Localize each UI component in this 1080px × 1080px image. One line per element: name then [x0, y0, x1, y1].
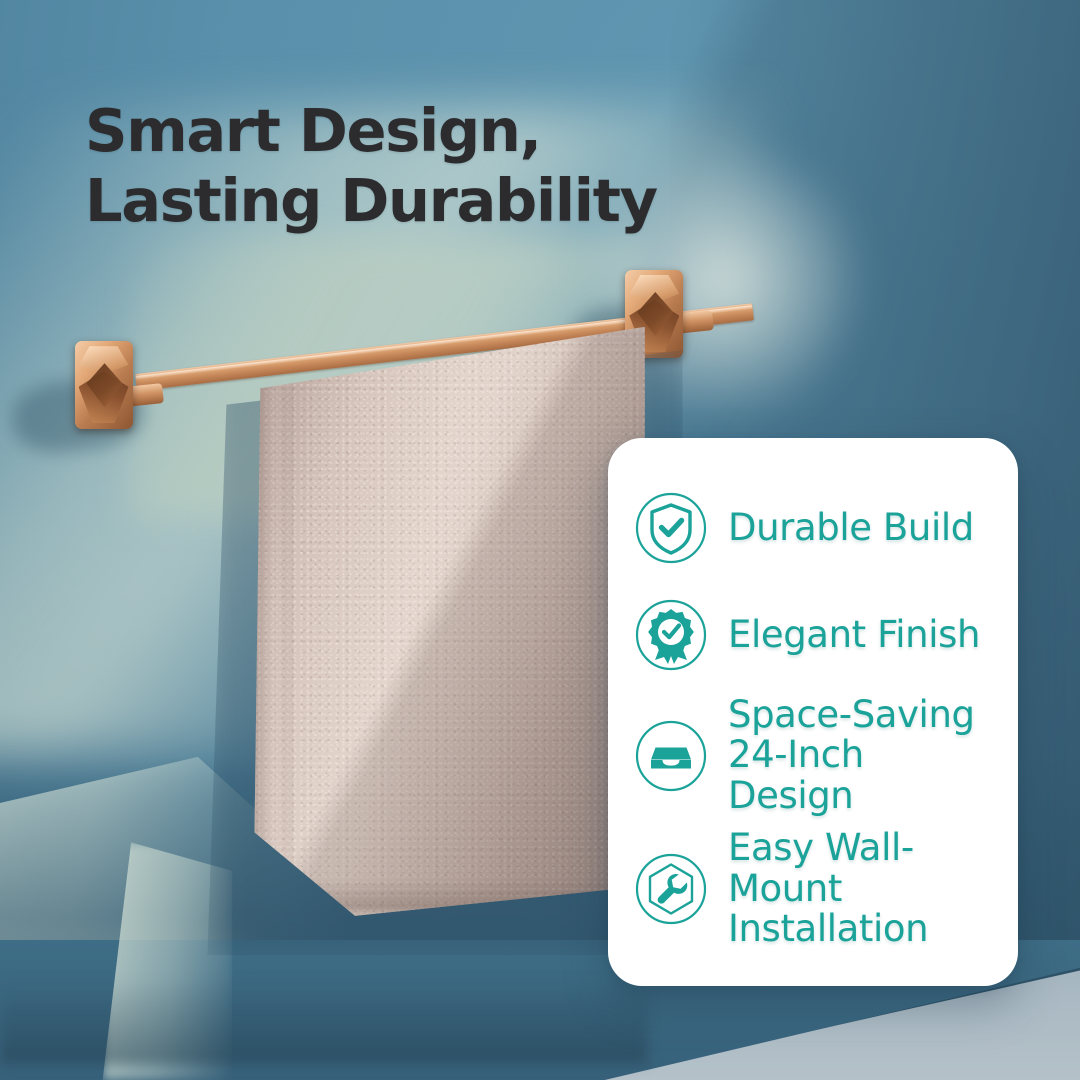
feature-item-elegant-finish: Elegant Finish	[634, 587, 992, 683]
feature-list-card: Durable Build Elegant Finish	[608, 438, 1018, 986]
storage-tray-icon	[634, 719, 708, 793]
product-marketing-image: Smart Design, Lasting Durability Durable…	[0, 0, 1080, 1080]
headline-line-1: Smart Design,	[85, 96, 775, 166]
wrench-hexagon-icon	[634, 852, 708, 926]
wall-base-shadow	[0, 977, 648, 1063]
feature-label-durable-build: Durable Build	[728, 508, 974, 549]
headline-line-2: Lasting Durability	[85, 166, 775, 236]
draped-towel	[251, 320, 645, 916]
shield-check-icon	[634, 491, 708, 565]
feature-item-space-saving: Space-Saving 24-Inch Design	[634, 695, 992, 817]
towel-diagonal-shadow	[251, 320, 645, 916]
feature-label-elegant-finish: Elegant Finish	[728, 615, 980, 656]
page-title: Smart Design, Lasting Durability	[85, 96, 775, 236]
feature-label-space-saving: Space-Saving 24-Inch Design	[728, 695, 992, 817]
award-ribbon-icon	[634, 598, 708, 672]
feature-item-easy-install: Easy Wall-Mount Installation	[634, 828, 992, 950]
left-mounting-bracket	[75, 341, 137, 433]
feature-item-durable-build: Durable Build	[634, 480, 992, 576]
feature-label-easy-install: Easy Wall-Mount Installation	[728, 828, 992, 950]
